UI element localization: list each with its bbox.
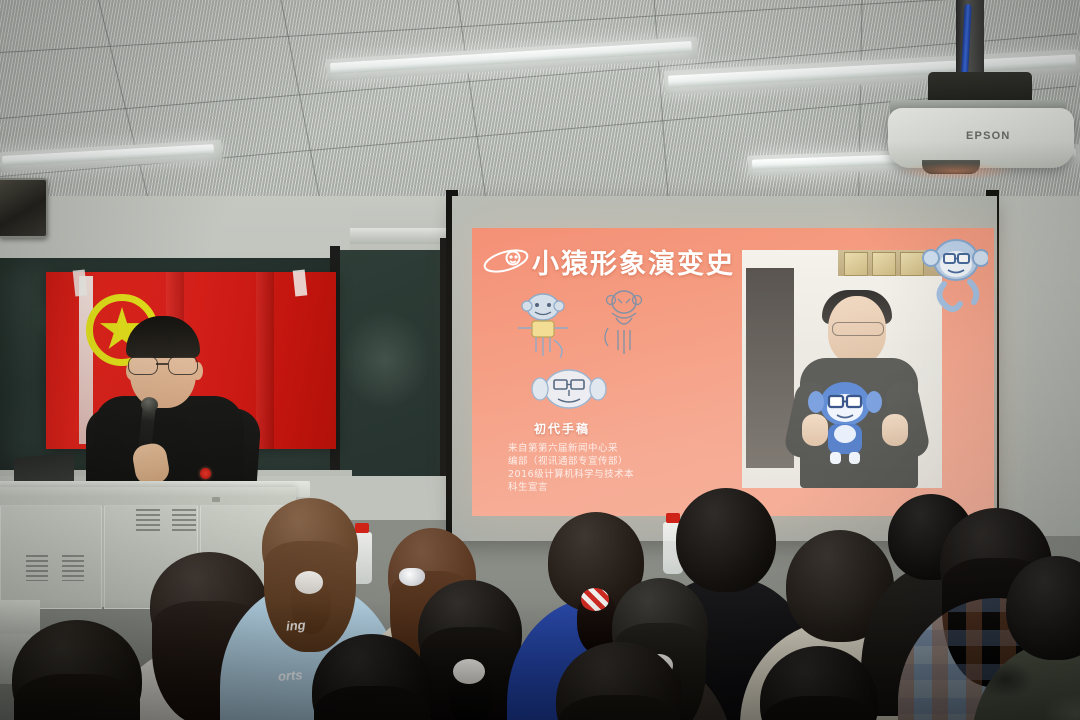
ceiling-seam — [452, 0, 489, 205]
bottle-cap — [355, 523, 369, 533]
ceiling-projector: EPSON — [866, 0, 1080, 190]
flag-tape — [293, 269, 308, 296]
person-head — [676, 488, 776, 592]
video-person-hand — [882, 414, 908, 446]
sketch-monkey-colored-icon — [512, 290, 574, 362]
video-person-glasses-icon — [832, 322, 884, 336]
person-hair-fall — [314, 686, 430, 720]
classroom-photo-scene: EPSON — [0, 0, 1080, 720]
hair-scrunchie — [453, 659, 484, 684]
chalk-smudge — [340, 310, 430, 410]
shirt-text-top: ing — [286, 617, 306, 633]
flag-tape — [73, 269, 88, 296]
presenter-hair — [126, 316, 200, 358]
wall-speaker-icon — [0, 178, 48, 238]
certificate-icon — [844, 252, 868, 276]
projector-lens-glow — [896, 162, 1016, 180]
ceiling-seam — [275, 0, 326, 205]
blue-monkey-mascot-icon — [922, 232, 988, 324]
presenter-glasses-icon — [128, 356, 198, 373]
slide-caption: 初代手稿 — [534, 420, 590, 437]
hair-clip — [399, 568, 425, 586]
bottle-cap — [666, 513, 680, 523]
credit-line: 编部（视讯通部专宣传部） — [508, 455, 658, 468]
shirt-text-bottom: orts — [278, 667, 304, 684]
audience: 石 ing orts — [0, 470, 1080, 720]
ceiling-seam — [651, 0, 670, 205]
projector-brand-label: EPSON — [966, 130, 1011, 142]
person-hair-fall — [14, 674, 140, 720]
slide-title: 小猿形象演变史 — [532, 242, 735, 281]
certificate-icon — [900, 252, 924, 276]
slide-embedded-video — [742, 250, 942, 488]
credit-line: 来自第第六届新闻中心采 — [508, 442, 658, 455]
hair-scrunchie — [295, 571, 324, 594]
certificate-icon — [872, 252, 896, 276]
sketch-monkey-outline-icon — [598, 288, 650, 360]
monkey-orbit-logo-icon — [482, 246, 530, 276]
sketch-monkey-face-icon — [530, 366, 608, 412]
glasses-lens — [168, 356, 198, 375]
glasses-bridge — [156, 363, 168, 365]
chalkboard-right-section — [330, 250, 452, 490]
ceiling-seam — [97, 0, 161, 205]
video-person — [794, 296, 920, 488]
glasses-lens — [128, 356, 158, 375]
blue-monkey-plush-icon — [808, 374, 882, 466]
